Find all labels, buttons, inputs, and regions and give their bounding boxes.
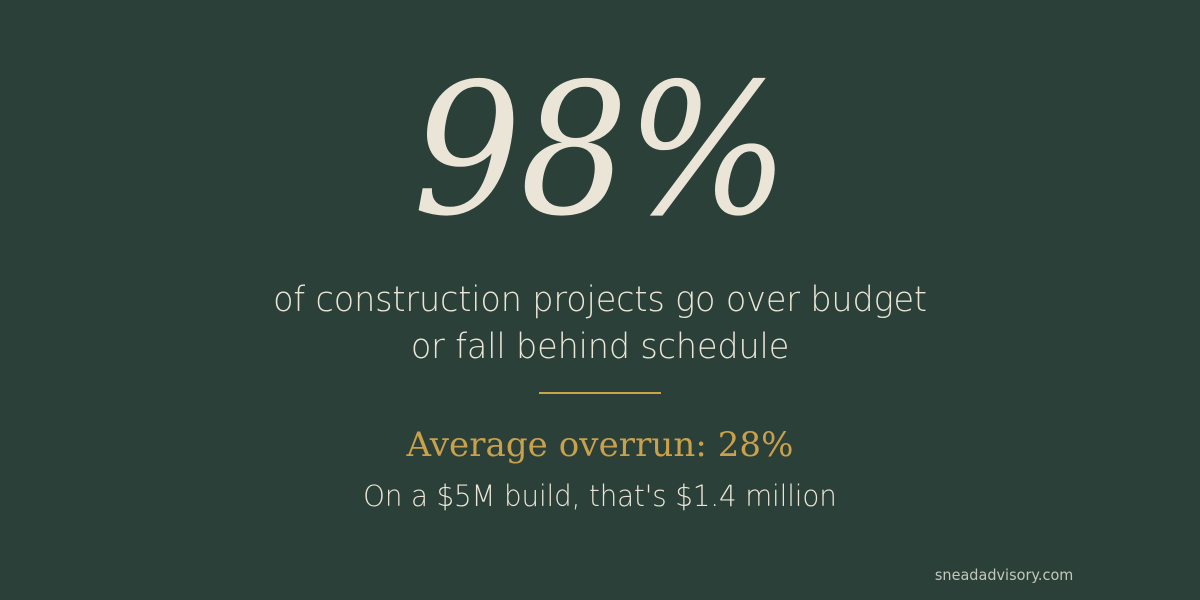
- subtitle-line-2: or fall behind schedule: [27, 324, 1173, 371]
- stat-slide: 98% of construction projects go over bud…: [0, 0, 1200, 600]
- stat-value: 98%: [413, 52, 787, 249]
- subtitle: of construction projects go over budget …: [0, 277, 1200, 370]
- footer-website: sneadadvisory.com: [932, 566, 1076, 584]
- gold-divider-rule: [539, 392, 661, 394]
- footer-website-text: sneadadvisory.com: [935, 566, 1073, 584]
- headline-stat: 98%: [0, 52, 1200, 249]
- supporting-detail: On a $5M build, that's $1.4 million: [0, 478, 1200, 516]
- average-overrun-text: Average overrun: 28%: [0, 424, 1200, 467]
- subtitle-line-1: of construction projects go over budget: [27, 277, 1173, 324]
- supporting-detail-text: On a $5M build, that's $1.4 million: [363, 478, 837, 516]
